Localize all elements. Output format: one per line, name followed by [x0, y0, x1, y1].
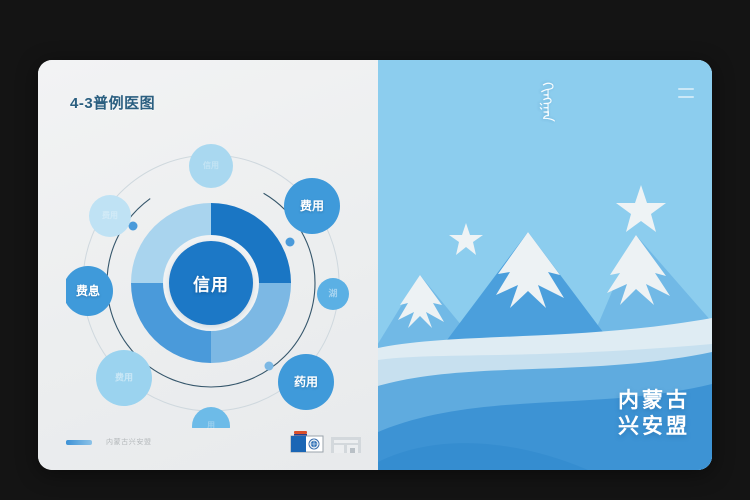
menu-bar-1	[678, 88, 694, 90]
presentation-card: 4-3普例医图	[38, 60, 712, 470]
region-line-2: 兴安盟	[618, 414, 690, 440]
node-circle-right	[317, 278, 349, 310]
node-circle-top-left	[89, 195, 131, 237]
orbit-dot-se	[265, 362, 274, 371]
mongolian-script-text: ᠬᠢᠩᠭᠠᠨ	[539, 82, 554, 122]
footer-accent-bar	[66, 440, 92, 445]
footer-note: 内蒙古兴安盟	[106, 437, 152, 447]
node-circle-bottom-right	[278, 354, 334, 410]
ring-diagram: 信用 信用 费用 费用 费息 湖 费用 药用 用	[66, 138, 356, 428]
orbit-dot-ne	[286, 238, 295, 247]
left-content-panel: 4-3普例医图	[38, 60, 378, 470]
footer-logos	[290, 430, 362, 454]
slide-footer: 内蒙古兴安盟	[38, 428, 378, 456]
screenshot-root: 4-3普例医图	[0, 0, 750, 500]
menu-bar-2	[678, 96, 694, 98]
landscape-panel: ᠬᠢᠩᠭᠠᠨ 内蒙古 兴安盟	[378, 60, 712, 470]
page-title: 4-3普例医图	[70, 92, 155, 113]
node-circle-top-right	[284, 178, 340, 234]
ring-diagram-svg	[66, 138, 356, 428]
node-circle-left	[66, 266, 113, 316]
node-circle-bottom-left	[96, 350, 152, 406]
building-logo	[330, 434, 362, 454]
hamburger-menu-icon[interactable]	[678, 88, 694, 98]
center-disc	[169, 241, 253, 325]
region-line-1: 内蒙古	[618, 388, 690, 414]
folder-globe-logo	[290, 430, 324, 454]
region-name: 内蒙古 兴安盟	[618, 388, 690, 441]
node-circle-top	[189, 144, 233, 188]
